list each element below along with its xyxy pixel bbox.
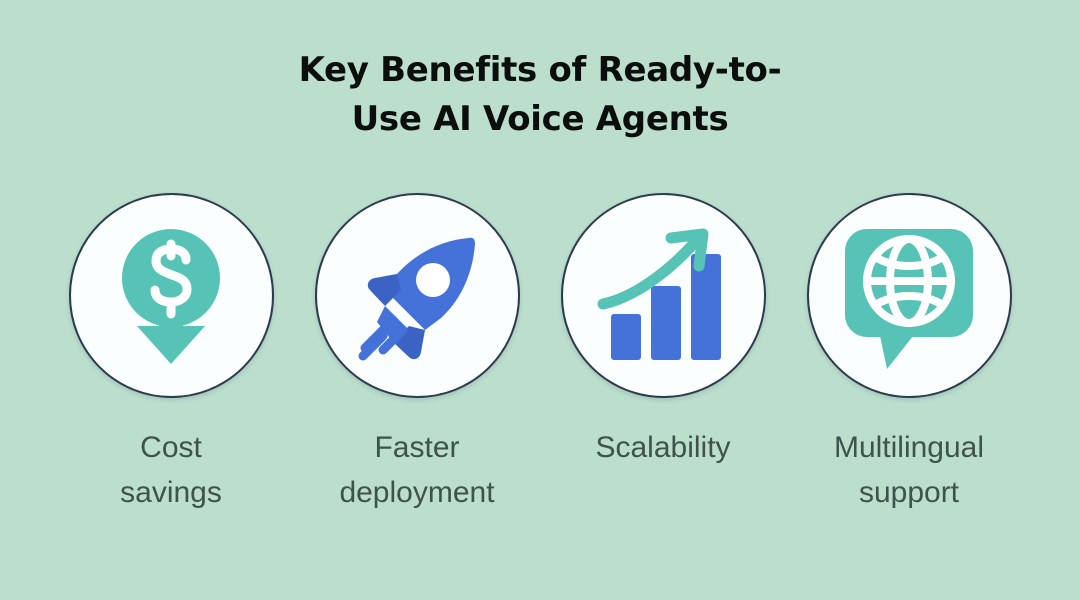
benefit-icon-badge [561,193,766,398]
benefit-card-scalability: Scalability [561,193,766,470]
benefit-card-faster-deployment: Faster deployment [315,193,520,515]
dollar-down-arrow-icon [107,226,235,366]
benefits-row: Cost savings [0,193,1080,515]
title-line-1: Key Benefits of Ready-to- [260,46,820,95]
title-line-2: Use AI Voice Agents [260,95,820,144]
benefit-label-scalability: Scalability [548,425,778,470]
growth-bar-chart-arrow-icon [593,228,733,364]
rocket-icon [347,226,487,366]
globe-speech-bubble-icon [839,223,979,369]
benefit-label-faster-deployment: Faster deployment [302,425,532,515]
label-line: savings [56,470,286,515]
benefit-icon-badge [807,193,1012,398]
label-line: Multilingual [794,425,1024,470]
label-line: deployment [302,470,532,515]
label-line: support [794,470,1024,515]
benefit-card-multilingual-support: Multilingual support [807,193,1012,515]
label-line: Cost [56,425,286,470]
infographic-poster: Key Benefits of Ready-to- Use AI Voice A… [0,0,1080,600]
benefit-icon-badge [69,193,274,398]
benefit-icon-badge [315,193,520,398]
label-line: Faster [302,425,532,470]
benefit-label-multilingual-support: Multilingual support [794,425,1024,515]
benefit-label-cost-savings: Cost savings [56,425,286,515]
benefit-card-cost-savings: Cost savings [69,193,274,515]
label-line: Scalability [548,425,778,470]
page-title: Key Benefits of Ready-to- Use AI Voice A… [260,46,820,144]
